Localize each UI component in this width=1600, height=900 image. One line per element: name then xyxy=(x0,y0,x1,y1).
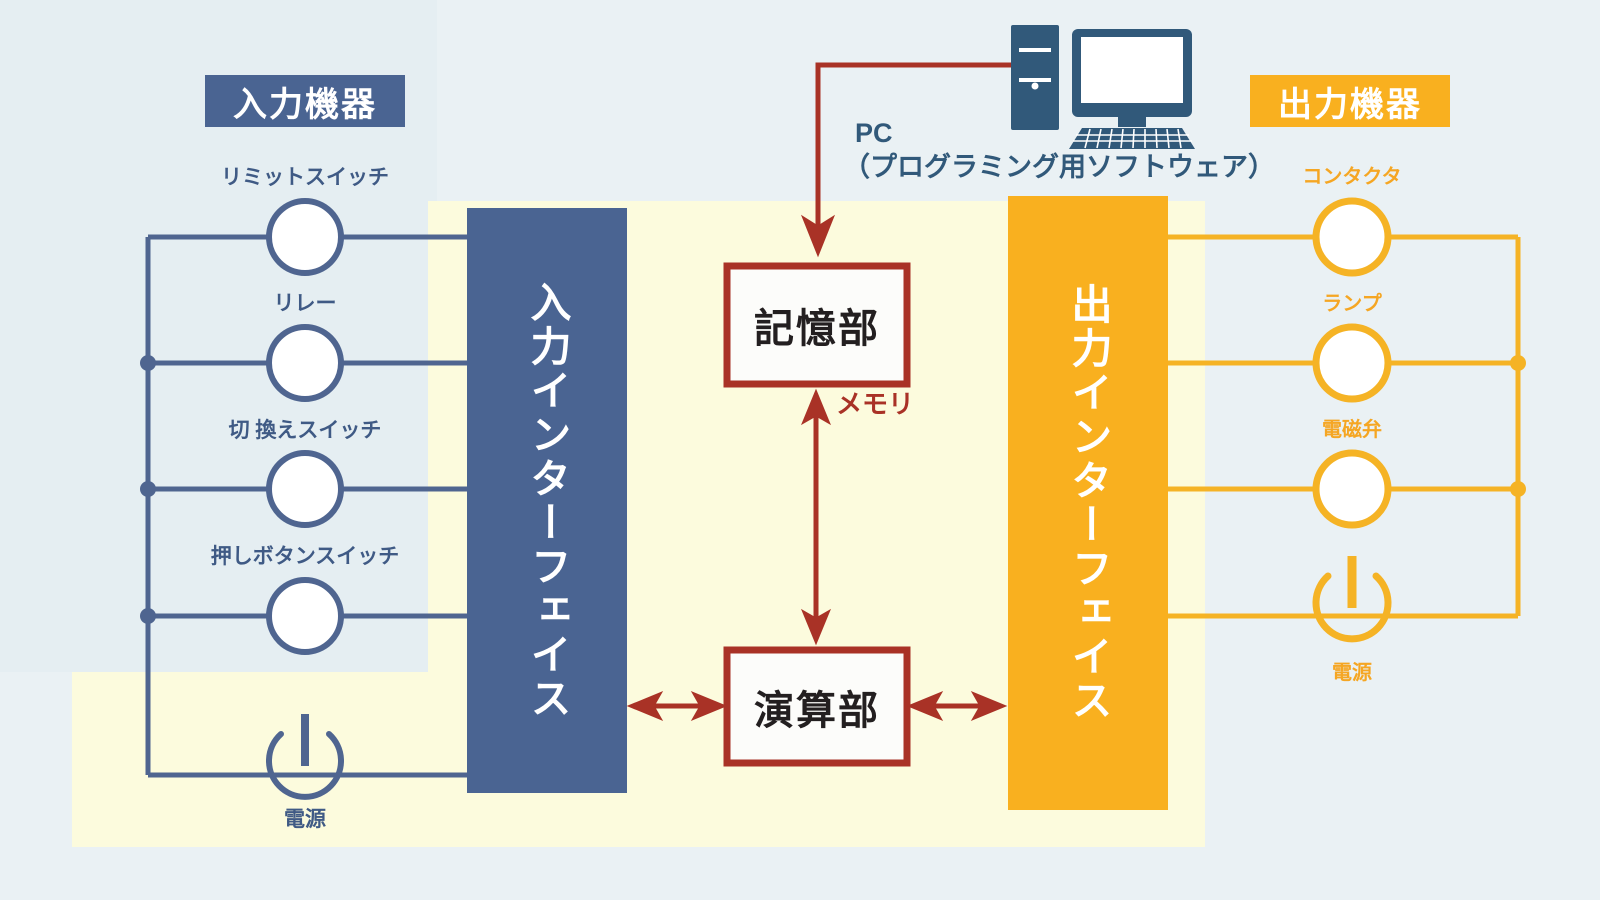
pc-monitor-stand xyxy=(1118,117,1146,127)
input-interface-label: 入力インターフェイス xyxy=(467,208,627,793)
output-device-label-lamp: ランプ xyxy=(1202,293,1502,316)
input-device-label-selector-switch: 切 換えスイッチ xyxy=(155,419,455,443)
output-device-label-solenoid-valve: 電磁弁 xyxy=(1202,419,1502,442)
input-device-label-power: 電源 xyxy=(155,808,455,832)
power-icon xyxy=(1316,556,1388,639)
circle-contact-icon xyxy=(1316,201,1388,273)
junction-dot xyxy=(140,608,156,624)
pc-tower xyxy=(1011,25,1059,130)
input-device-label-relay: リレー xyxy=(155,292,455,316)
output-device-label-power: 電源 xyxy=(1202,662,1502,685)
junction-dot xyxy=(140,355,156,371)
junction-dot xyxy=(140,481,156,497)
circle-contact-icon xyxy=(1316,327,1388,399)
input-device-label-push-button: 押しボタンスイッチ xyxy=(155,545,455,569)
junction-dot xyxy=(1510,481,1526,497)
input-device-label-limit-switch: リミットスイッチ xyxy=(155,166,455,190)
output-section-badge: 出力機器 xyxy=(1250,75,1450,127)
pc-name-label: PC xyxy=(855,118,893,149)
diagram-graphics xyxy=(0,0,1600,900)
diagram-canvas: 入力機器 出力機器 リミットスイッチ リレー 切 換えスイッチ 押しボタンスイッ… xyxy=(0,0,1600,900)
desktop-computer-icon xyxy=(1011,25,1195,149)
circle-contact-icon xyxy=(269,453,341,525)
circle-contact-icon xyxy=(1316,453,1388,525)
processor-box-label: 演算部 xyxy=(727,650,907,763)
memory-annotation-label: メモリ xyxy=(836,390,914,420)
input-section-badge: 入力機器 xyxy=(205,75,405,127)
junction-dot xyxy=(1510,355,1526,371)
pc-description-label: （プログラミング用ソフトウェア） xyxy=(843,152,1275,183)
output-interface-label: 出力インターフェイス xyxy=(1008,196,1168,810)
circle-contact-icon xyxy=(269,327,341,399)
circle-contact-icon xyxy=(269,580,341,652)
circle-contact-icon xyxy=(269,201,341,273)
memory-box-label: 記憶部 xyxy=(727,266,907,384)
